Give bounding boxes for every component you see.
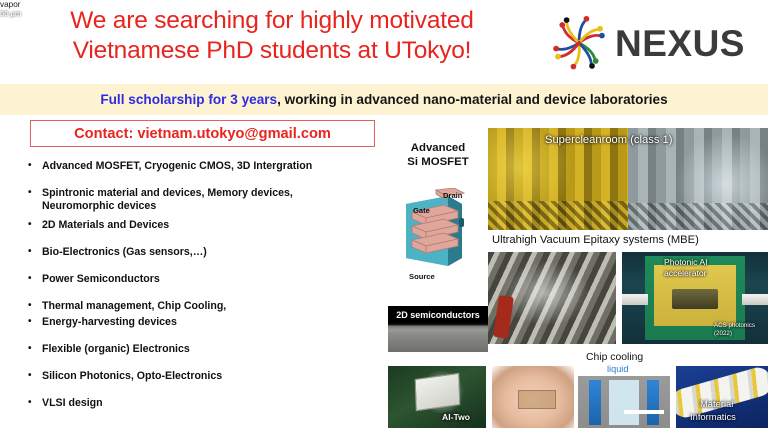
citation-acs-line-1: ACS photonics — [714, 322, 755, 329]
list-item-label: Energy-harvesting devices — [42, 316, 390, 329]
list-item-label: Flexible (organic) Electronics — [42, 343, 390, 356]
photo-mbe-system — [488, 252, 616, 344]
photo-2d-semiconductors: 2D semiconductors — [388, 306, 488, 352]
mosfet-label-gate: Gate — [413, 206, 430, 215]
photo-chip-cooling — [578, 376, 670, 428]
bullet-icon: • — [24, 300, 42, 313]
contact-email-text: Contact: vietnam.utokyo@gmail.com — [74, 126, 331, 142]
cooling-liquid-column-left — [589, 380, 601, 425]
list-item: •Energy-harvesting devices — [24, 316, 390, 329]
list-item-label: 2D Materials and Devices — [42, 219, 390, 232]
mosfet-title: Advanced Si MOSFET — [390, 142, 486, 169]
list-item-label: Bio-Electronics (Gas sensors,…) — [42, 246, 390, 259]
bullet-icon: • — [24, 246, 42, 259]
bullet-icon: • — [24, 187, 42, 200]
scholarship-rest: , working in advanced nano-material and … — [277, 92, 668, 107]
cooling-vapor-region — [609, 380, 638, 425]
nexus-pinwheel-icon — [548, 12, 610, 74]
caption-liquid: liquid — [607, 364, 628, 375]
mosfet-diagram-icon — [392, 188, 488, 272]
caption-material-informatics-line-1: Material — [700, 398, 733, 409]
citation-acs-line-2: (2022) — [714, 330, 732, 337]
page-title: We are searching for highly motivated Vi… — [12, 6, 532, 66]
list-item-label: Thermal management, Chip Cooling, — [42, 300, 390, 313]
photonic-fiber-left — [622, 294, 648, 305]
bullet-icon: • — [24, 370, 42, 383]
list-item-label: Advanced MOSFET, Cryogenic CMOS, 3D Inte… — [42, 160, 390, 173]
photo-skin-electronics — [492, 366, 574, 428]
photonic-chip — [672, 289, 719, 309]
caption-ai-two: AI-Two — [442, 412, 470, 422]
skin-patch — [518, 390, 556, 410]
list-item: •Bio-Electronics (Gas sensors,…) — [24, 246, 390, 259]
caption-chip-cooling: Chip cooling — [586, 352, 643, 364]
list-item-label: Spintronic material and devices, Memory … — [42, 187, 390, 200]
list-item: •Thermal management, Chip Cooling, — [24, 300, 390, 313]
scholarship-banner: Full scholarship for 3 years, working in… — [0, 84, 768, 115]
bullet-icon: • — [24, 219, 42, 232]
list-item: •VLSI design — [24, 397, 390, 410]
mosfet-title-line-1: Advanced — [390, 142, 486, 156]
headline-line-2: Vietnamese PhD students at UTokyo! — [12, 36, 532, 66]
photo-ai-two-chip — [388, 366, 486, 428]
contact-box[interactable]: Contact: vietnam.utokyo@gmail.com — [30, 120, 375, 147]
bullet-icon: • — [24, 397, 42, 410]
ai-two-package — [415, 373, 461, 412]
caption-mbe: Ultrahigh Vacuum Epitaxy systems (MBE) — [492, 234, 699, 247]
list-item: •Spintronic material and devices, Memory… — [24, 187, 390, 200]
caption-photonic-line-2: accelerator — [664, 268, 707, 278]
scholarship-highlight: Full scholarship for 3 years — [100, 92, 277, 107]
list-item: •2D Materials and Devices — [24, 219, 390, 232]
list-item: •Advanced MOSFET, Cryogenic CMOS, 3D Int… — [24, 160, 390, 173]
bullet-icon: • — [24, 273, 42, 286]
list-item: •Silicon Photonics, Opto-Electronics — [24, 370, 390, 383]
headline-line-1: We are searching for highly motivated — [12, 6, 532, 36]
nexus-wordmark: NEXUS — [615, 25, 745, 62]
cooling-liquid-column-right — [647, 380, 659, 425]
mosfet-title-line-2: Si MOSFET — [390, 156, 486, 170]
photo-2d-label-bar: 2D semiconductors — [388, 306, 488, 323]
slide-root: We are searching for highly motivated Vi… — [0, 0, 768, 432]
caption-material-informatics-line-2: Informatics — [690, 411, 736, 422]
research-topics-list: •Advanced MOSFET, Cryogenic CMOS, 3D Int… — [24, 160, 390, 410]
list-item-sublabel: Neuromorphic devices — [24, 200, 390, 213]
bullet-icon: • — [24, 316, 42, 329]
list-item-label: VLSI design — [42, 397, 390, 410]
mosfet-label-drain: Drain — [443, 191, 462, 200]
nexus-logo: NEXUS — [548, 10, 764, 76]
mosfet-label-source: Source — [409, 272, 435, 281]
caption-supercleanroom: Supercleanroom (class 1) — [545, 134, 672, 146]
list-item-label: Power Semiconductors — [42, 273, 390, 286]
caption-photonic-line-1: Photonic AI — [664, 257, 707, 267]
list-item: •Power Semiconductors — [24, 273, 390, 286]
list-item-label: Silicon Photonics, Opto-Electronics — [42, 370, 390, 383]
scale-bar — [624, 410, 664, 414]
photonic-fiber-right — [742, 294, 768, 305]
bullet-icon: • — [24, 343, 42, 356]
list-item: •Flexible (organic) Electronics — [24, 343, 390, 356]
bullet-icon: • — [24, 160, 42, 173]
photo-2d-label: 2D semiconductors — [396, 310, 480, 320]
